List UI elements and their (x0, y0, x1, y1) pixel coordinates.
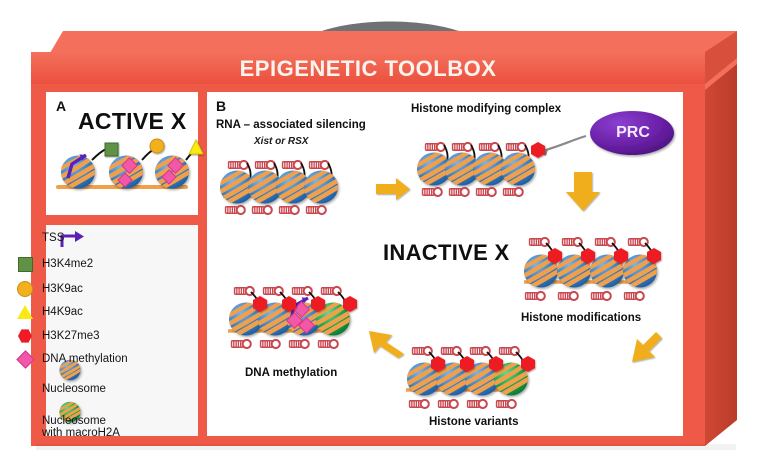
yellow-triangle-icon (12, 305, 38, 319)
step-title-dna-methylation: DNA methylation (245, 367, 337, 379)
step-title-histone-modifications: Histone modifications (521, 312, 641, 324)
legend-item-nucleosome: Nucleosome (12, 383, 106, 395)
legend-item-dna-methylation: DNA methylation (12, 353, 128, 366)
legend-label-tss: TSS (42, 232, 64, 244)
legend-item-h3k9ac: H3K9ac (12, 281, 83, 297)
h3k9ac-mark (150, 139, 164, 153)
legend-label-h4k9ac: H4K9ac (42, 306, 83, 318)
legend-label-nucleosome-macroh2a-line1: Nucleosome (42, 415, 120, 427)
legend-label-nucleosome-macroh2a-line2: with macroH2A (42, 427, 120, 439)
red-hexagon-icon (12, 329, 38, 343)
legend-item-h3k27me3: H3K27me3 (12, 329, 100, 343)
toolbox-title: EPIGENETIC TOOLBOX (31, 56, 705, 82)
legend-item-h3k4me2: H3K4me2 (12, 257, 93, 272)
step-title-histone-variants: Histone variants (429, 416, 518, 428)
step-title-histone-modifying-complex: Histone modifying complex (411, 103, 561, 115)
panel-a-letter: A (56, 98, 66, 114)
prc-label: PRC (606, 124, 660, 142)
panel-a-heading: ACTIVE X (78, 108, 186, 135)
inactive-x-label: INACTIVE X (383, 240, 509, 266)
legend-label-nucleosome: Nucleosome (42, 383, 106, 395)
panel-b-letter: B (216, 98, 226, 114)
legend-label-h3k9ac: H3K9ac (42, 283, 83, 295)
h3k4me2-mark (105, 143, 118, 156)
step-subtitle-xist-or-rsx: Xist or RSX (254, 136, 308, 147)
legend-label-h3k27me3: H3K27me3 (42, 330, 100, 342)
orange-circle-icon (12, 281, 38, 297)
legend-item-h4k9ac: H4K9ac (12, 305, 83, 319)
green-square-icon (12, 257, 38, 272)
legend-label-dna-methylation: DNA methylation (42, 353, 128, 365)
legend-item-nucleosome-macroh2a: Nucleosome with macroH2A (12, 415, 120, 439)
legend-label-h3k4me2: H3K4me2 (42, 258, 93, 270)
legend-item-tss: TSS (12, 232, 64, 244)
pink-diamond-icon (12, 353, 38, 366)
step-title-rna-associated-silencing: RNA – associated silencing (216, 119, 366, 131)
epigenetic-toolbox-figure: EPIGENETIC TOOLBOX A ACTIVE X B RNA – as… (0, 0, 774, 456)
